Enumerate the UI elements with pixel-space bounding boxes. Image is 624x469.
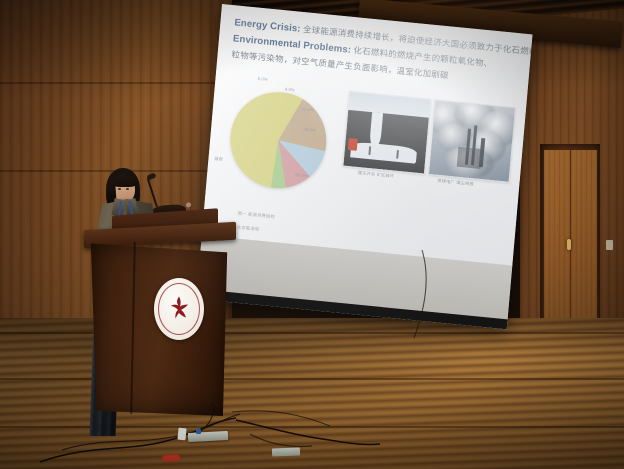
photo1-red-machine xyxy=(348,138,358,151)
open-pit-mine-photo xyxy=(342,91,431,175)
emblem-bird-mark xyxy=(168,295,190,321)
power-strip-2 xyxy=(272,448,300,457)
wall-outlet-right xyxy=(606,240,613,250)
university-emblem xyxy=(154,278,204,340)
photo-caption-left: 露天开采 矿区破坏 xyxy=(358,170,395,180)
lectern-top-ledge xyxy=(84,222,236,248)
blue-connector xyxy=(196,429,201,434)
pie-label-3: 20.0% xyxy=(303,127,316,133)
lectern xyxy=(84,226,236,418)
wall-cable xyxy=(400,250,530,350)
side-door[interactable] xyxy=(540,144,600,340)
pie-label-major: 煤炭 xyxy=(214,156,223,163)
presentation-slide: Energy Crisis: 全球能源消费持续增长，将迫使经济大国必须致力于化石… xyxy=(202,4,533,266)
red-floor-object xyxy=(162,454,180,461)
door-leaf-right[interactable] xyxy=(571,150,597,334)
pie-label-0: 5.0% xyxy=(257,76,268,82)
white-plug xyxy=(177,428,186,441)
energy-mix-pie-chart: 5.0% 9.0% 10.0% 20.0% 56.0% 煤炭 图一 能源消费结构… xyxy=(211,71,347,233)
photo-caption-right: 燃煤电厂 烟尘排放 xyxy=(437,178,474,188)
pie-slices xyxy=(226,88,330,193)
door-handle-icon[interactable] xyxy=(567,239,571,250)
presenter-hair-front xyxy=(112,174,137,187)
slide-photo-row xyxy=(342,91,516,181)
pie-label-1: 9.0% xyxy=(285,87,296,93)
chart-caption: 图一 能源消费结构 xyxy=(238,211,276,221)
floor-cables xyxy=(0,400,624,469)
smokestack-emissions-photo xyxy=(427,99,516,183)
photo-scene: Energy Crisis: 全球能源消费持续增长，将迫使经济大国必须致力于化石… xyxy=(0,0,624,469)
